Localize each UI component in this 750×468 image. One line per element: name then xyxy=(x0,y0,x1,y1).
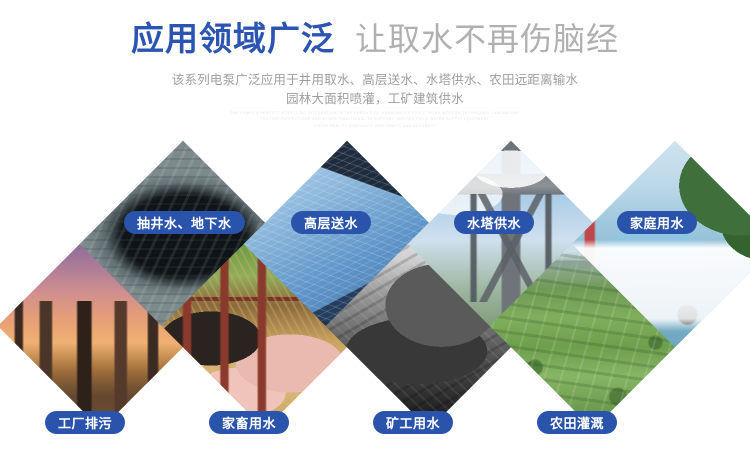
badge-car[interactable]: 家庭用水 xyxy=(617,211,697,234)
badge-well[interactable]: 抽井水、地下水 xyxy=(124,211,245,234)
badge-label-well: 抽井水、地下水 xyxy=(137,213,232,232)
badge-farm[interactable]: 农田灌溉 xyxy=(537,411,617,434)
badge-towers[interactable]: 高层送水 xyxy=(291,211,371,234)
badge-label-water-tower: 水塔供水 xyxy=(467,213,521,232)
badge-label-refinery: 工厂排污 xyxy=(58,413,112,432)
badge-refinery[interactable]: 工厂排污 xyxy=(45,411,125,434)
badge-label-farm: 农田灌溉 xyxy=(550,413,604,432)
badge-miner[interactable]: 矿工用水 xyxy=(373,411,453,434)
application-tiles: 抽井水、地下水 高层送水 水塔供水 家庭用水 工厂排污 家畜用水 矿工用水 农田… xyxy=(0,0,750,468)
badge-pigs[interactable]: 家畜用水 xyxy=(209,411,289,434)
promo-banner: 应用领域广泛 让取水不再伤脑经 该系列电泵广泛应用于井用取水、高层送水、水塔供水… xyxy=(0,0,750,468)
badge-label-pigs: 家畜用水 xyxy=(222,413,276,432)
badge-label-miner: 矿工用水 xyxy=(386,413,440,432)
badge-water-tower[interactable]: 水塔供水 xyxy=(454,211,534,234)
badge-label-car: 家庭用水 xyxy=(630,213,684,232)
badge-label-towers: 高层送水 xyxy=(304,213,358,232)
